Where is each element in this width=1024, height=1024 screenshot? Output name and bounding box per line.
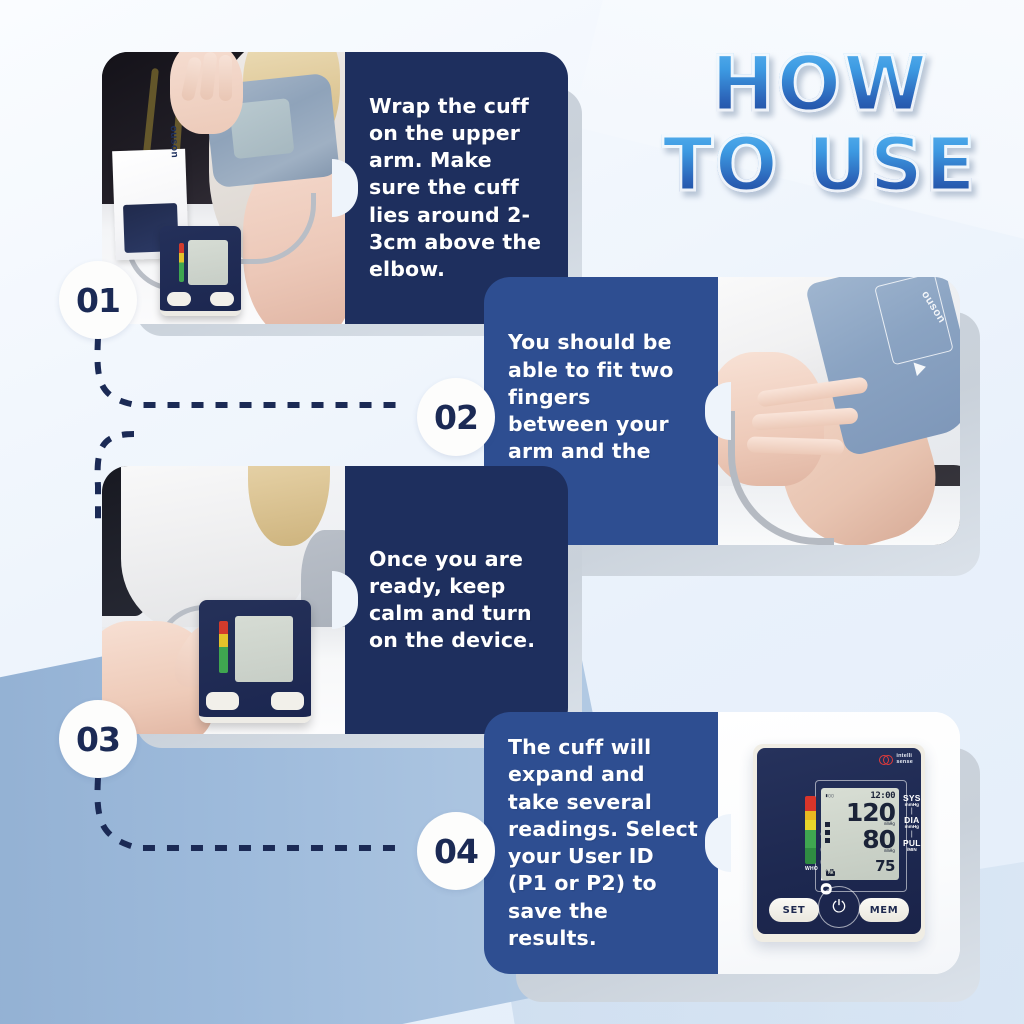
lcd-display: ▮▯▯ 12:00 120 mmHg 80 mmHg ∿♥ 75: [821, 788, 899, 880]
battery-icon: ▮▯▯: [825, 793, 834, 799]
lcd-diastolic: 80: [825, 829, 895, 851]
memory-indicator-icon: [825, 822, 830, 846]
connector-01-to-02: [97, 338, 400, 405]
intellisense-logo: intelli sense: [879, 754, 913, 766]
display-side-labels: SYS mmHg | DIA mmHg | PUL /MIN: [903, 794, 921, 852]
step-card-4: The cuff will expand and take several re…: [484, 712, 960, 974]
step-number-1: 01: [76, 281, 120, 320]
step-2-photo: ouson: [718, 277, 960, 545]
label-pul-unit: /MIN: [903, 848, 921, 853]
step-number-2: 02: [434, 398, 478, 437]
label-sys-unit: mmHg: [903, 803, 921, 808]
label-divider-1: |: [903, 808, 921, 815]
step-4-photo: intelli sense ouson C A R E: [718, 712, 960, 974]
step-4-text-panel: The cuff will expand and take several re…: [484, 712, 718, 974]
step-number-badge-3[interactable]: 03: [59, 700, 137, 778]
step-number-badge-1[interactable]: 01: [59, 261, 137, 339]
blood-pressure-monitor: intelli sense ouson C A R E: [753, 744, 925, 942]
step-3-text: Once you are ready, keep calm and turn o…: [345, 546, 568, 655]
step-3-text-panel: Once you are ready, keep calm and turn o…: [345, 466, 568, 734]
lcd-memory-tag: MR: [826, 871, 835, 876]
step-1-text: Wrap the cuff on the upper arm. Make sur…: [345, 93, 568, 284]
lcd-diastolic-unit: mmHg: [825, 850, 895, 855]
step-number-badge-4[interactable]: 04: [417, 812, 495, 890]
step-number-badge-2[interactable]: 02: [417, 378, 495, 456]
mem-button[interactable]: MEM: [859, 898, 909, 922]
page-title-line-2: TO USE: [620, 130, 1020, 200]
step-number-3: 03: [76, 720, 120, 759]
step-4-text: The cuff will expand and take several re…: [484, 734, 718, 952]
page-title: HOW TO USE: [620, 48, 1020, 200]
photo-2-illustration: ouson: [718, 277, 960, 545]
lcd-systolic: 120: [825, 802, 895, 824]
intellisense-line-2: sense: [896, 760, 913, 766]
label-dia-unit: mmHg: [903, 825, 921, 830]
power-button[interactable]: ⏻: [818, 886, 860, 928]
label-divider-2: |: [903, 831, 921, 838]
photo-3-illustration: [102, 466, 345, 734]
step-number-4: 04: [434, 832, 478, 871]
step-card-3: Once you are ready, keep calm and turn o…: [102, 466, 568, 734]
who-indicator: WHO: [805, 796, 816, 872]
lcd-pulse: 75: [875, 857, 895, 875]
step-3-photo: [102, 466, 345, 734]
who-color-bar: [805, 796, 816, 864]
page-title-line-1: HOW: [620, 48, 1020, 120]
step-1-photo: ouson: [102, 52, 345, 324]
photo-4-illustration: intelli sense ouson C A R E: [718, 712, 960, 974]
who-label: WHO: [805, 866, 816, 872]
photo-1-illustration: ouson: [102, 52, 345, 324]
set-button[interactable]: SET: [769, 898, 819, 922]
heart-logo-icon: [879, 755, 893, 764]
infographic-canvas: HOW TO USE: [0, 0, 1024, 1024]
